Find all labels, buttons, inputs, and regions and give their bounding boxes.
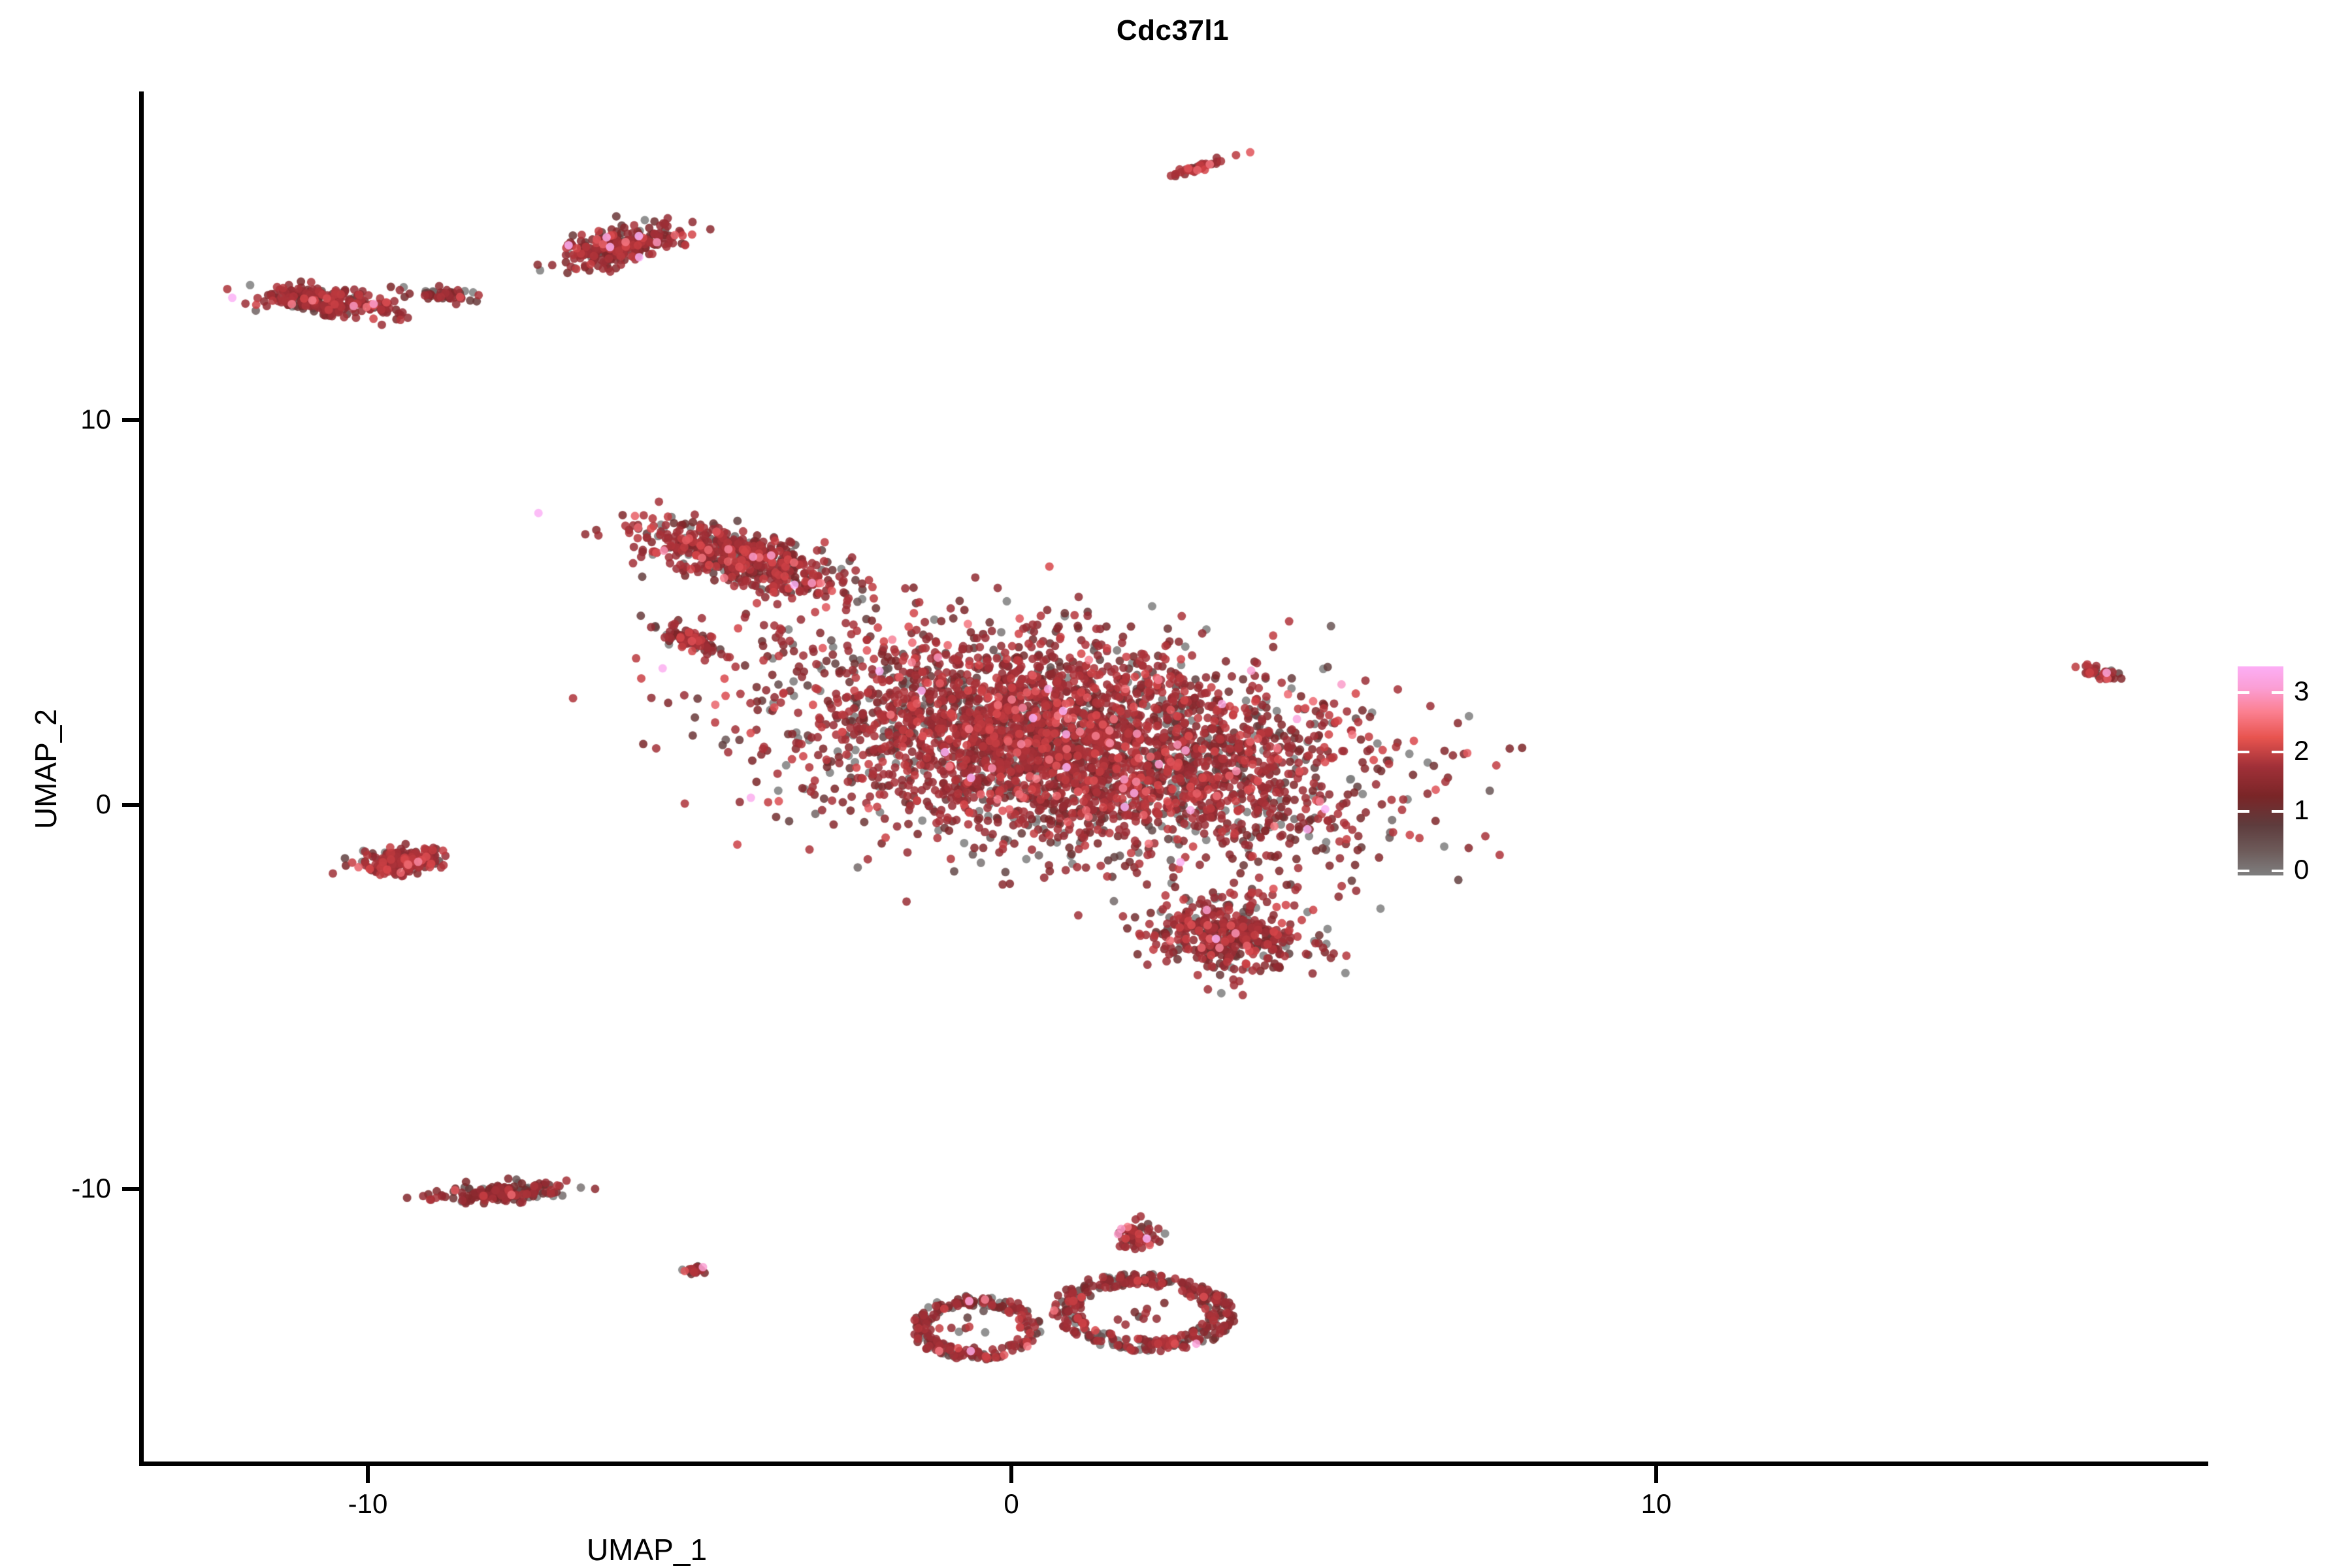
x-axis-line — [139, 1462, 2208, 1466]
y-axis-tick-10 — [122, 418, 139, 422]
umap-scatter-canvas — [144, 91, 2208, 1463]
page-title: Cdc37l1 — [0, 14, 2349, 47]
x-axis-label-neg10: -10 — [283, 1488, 453, 1520]
y-axis-tick-neg10 — [122, 1187, 139, 1191]
colorbar-tick-0-left — [2238, 870, 2249, 872]
colorbar-tick-2-right — [2272, 751, 2283, 753]
colorbar-label-3: 3 — [2294, 678, 2309, 705]
colorbar-tick-2-left — [2238, 751, 2249, 753]
colorbar-tick-1-left — [2238, 810, 2249, 813]
colorbar-gradient — [2238, 666, 2283, 875]
y-axis-line — [139, 91, 144, 1466]
scatter-plot-panel — [144, 91, 2208, 1463]
y-axis-title: UMAP_2 — [28, 606, 63, 932]
y-axis-tick-0 — [122, 803, 139, 807]
x-axis-label-0: 0 — [926, 1488, 1096, 1520]
colorbar-tick-1-right — [2272, 810, 2283, 813]
colorbar-legend: 3 2 1 0 — [2238, 666, 2349, 882]
x-axis-tick-neg10 — [366, 1466, 370, 1483]
x-axis-label-10: 10 — [1571, 1488, 1741, 1520]
colorbar-label-2: 2 — [2294, 737, 2309, 764]
x-axis-tick-0 — [1009, 1466, 1013, 1483]
x-axis-tick-10 — [1654, 1466, 1658, 1483]
y-axis-label-neg10: -10 — [0, 1173, 111, 1204]
y-axis-label-10: 10 — [0, 404, 111, 435]
colorbar-label-1: 1 — [2294, 796, 2309, 824]
x-axis-title: UMAP_1 — [0, 1532, 1823, 1567]
colorbar-tick-0-right — [2272, 870, 2283, 872]
colorbar-tick-3-left — [2238, 691, 2249, 694]
colorbar-tick-3-right — [2272, 691, 2283, 694]
colorbar-label-0: 0 — [2294, 856, 2309, 883]
